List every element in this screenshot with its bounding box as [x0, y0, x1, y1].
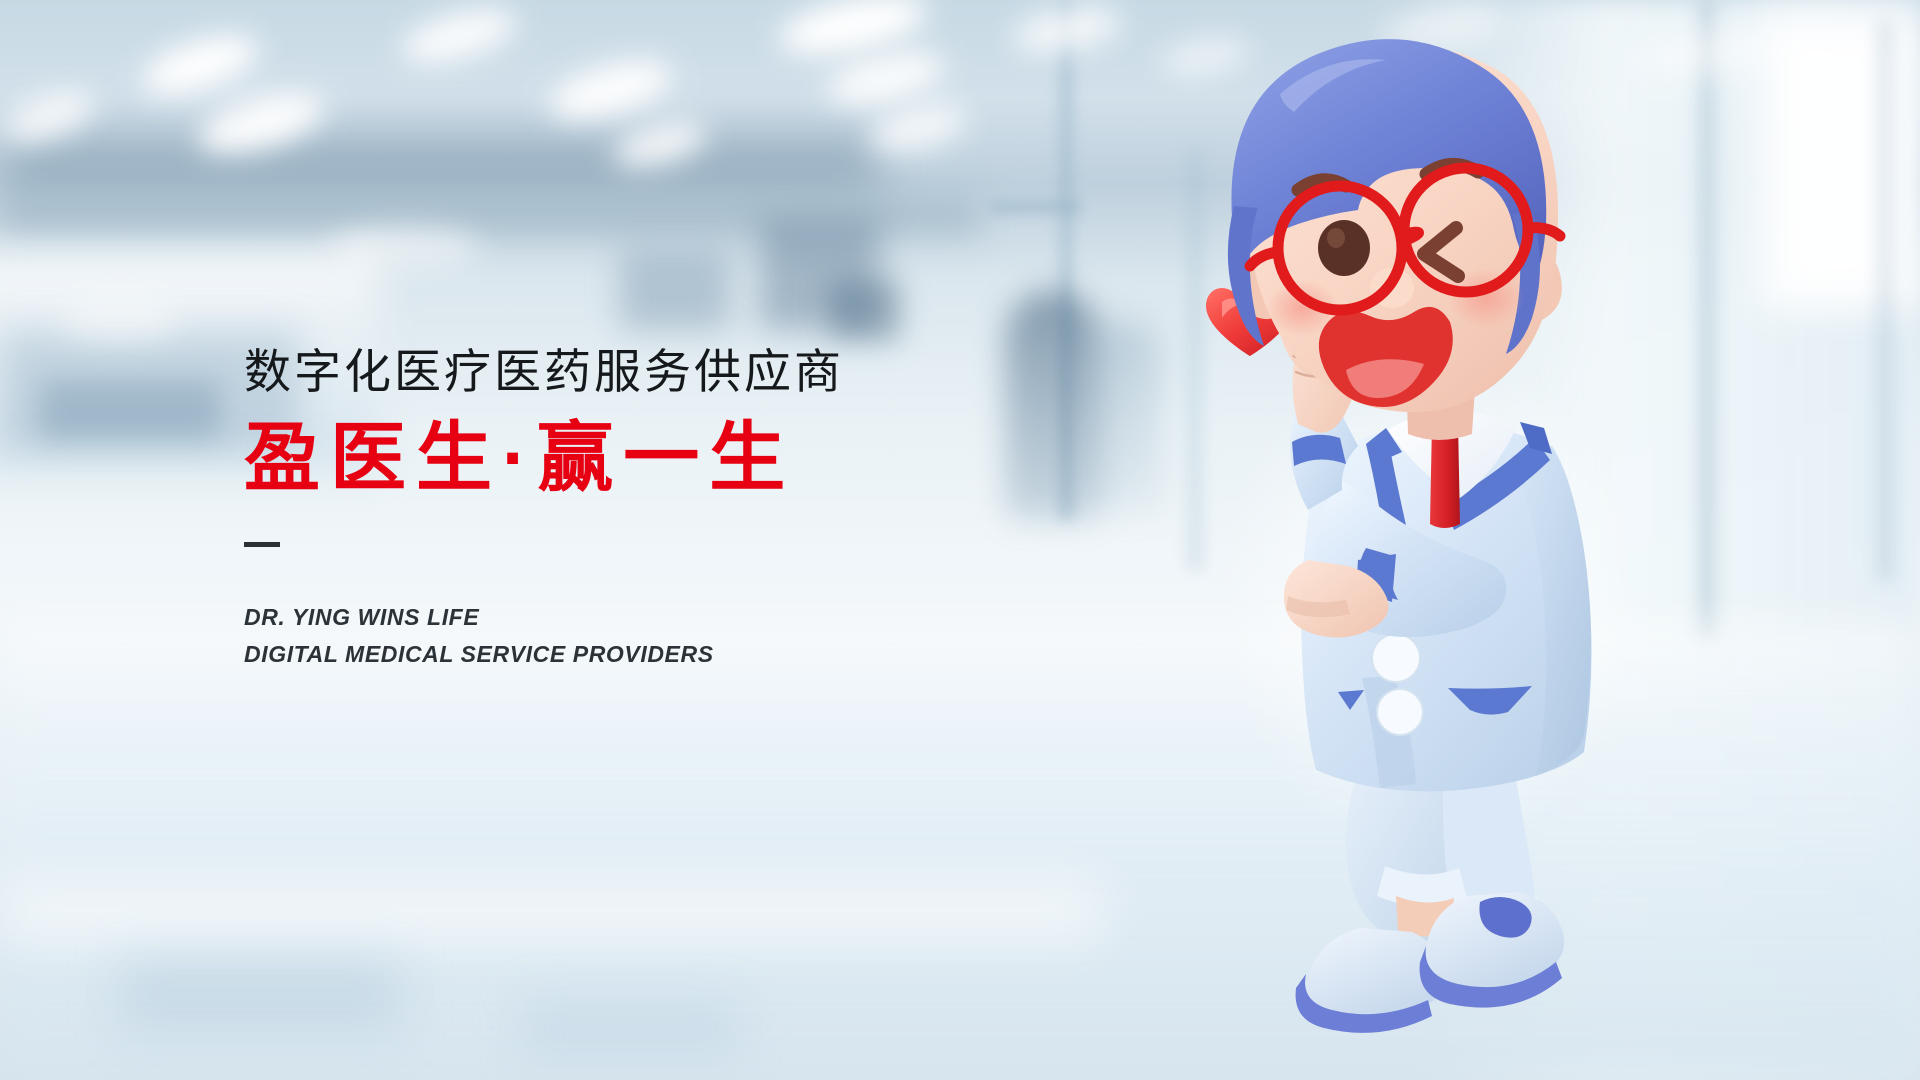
background-window-right	[1760, 10, 1920, 310]
ceiling-light-14	[330, 226, 480, 266]
background-person-silhouette	[1005, 290, 1101, 520]
background-floor-streak	[0, 880, 1100, 940]
background-doorframe-2	[1880, 20, 1890, 580]
background-block-c	[830, 280, 900, 340]
background-floor-reflection	[120, 960, 400, 1030]
hero-banner: 数字化医疗医药服务供应商 盈医生·赢一生 DR. YING WINS LIFE …	[0, 0, 1920, 1080]
background-person-silhouette-2	[1090, 320, 1160, 510]
head	[1228, 39, 1562, 412]
page-title: 盈医生·赢一生	[244, 421, 844, 497]
eye-open	[1318, 220, 1370, 276]
hero-copy: 数字化医疗医药服务供应商 盈医生·赢一生 DR. YING WINS LIFE …	[244, 348, 844, 674]
doctor-mascot-illustration	[1180, 40, 1740, 1050]
background-floor-reflection-2	[520, 1000, 740, 1055]
divider	[244, 542, 280, 547]
headline-chinese: 数字化医疗医药服务供应商	[244, 348, 844, 395]
subtitle-line-1: DR. YING WINS LIFE	[244, 599, 844, 636]
subtitle-english: DR. YING WINS LIFE DIGITAL MEDICAL SERVI…	[244, 599, 844, 674]
ceiling-light-15	[60, 300, 180, 342]
background-block-b	[620, 250, 730, 330]
subtitle-line-2: DIGITAL MEDICAL SERVICE PROVIDERS	[244, 636, 844, 673]
background-counter-left-object	[40, 380, 220, 440]
